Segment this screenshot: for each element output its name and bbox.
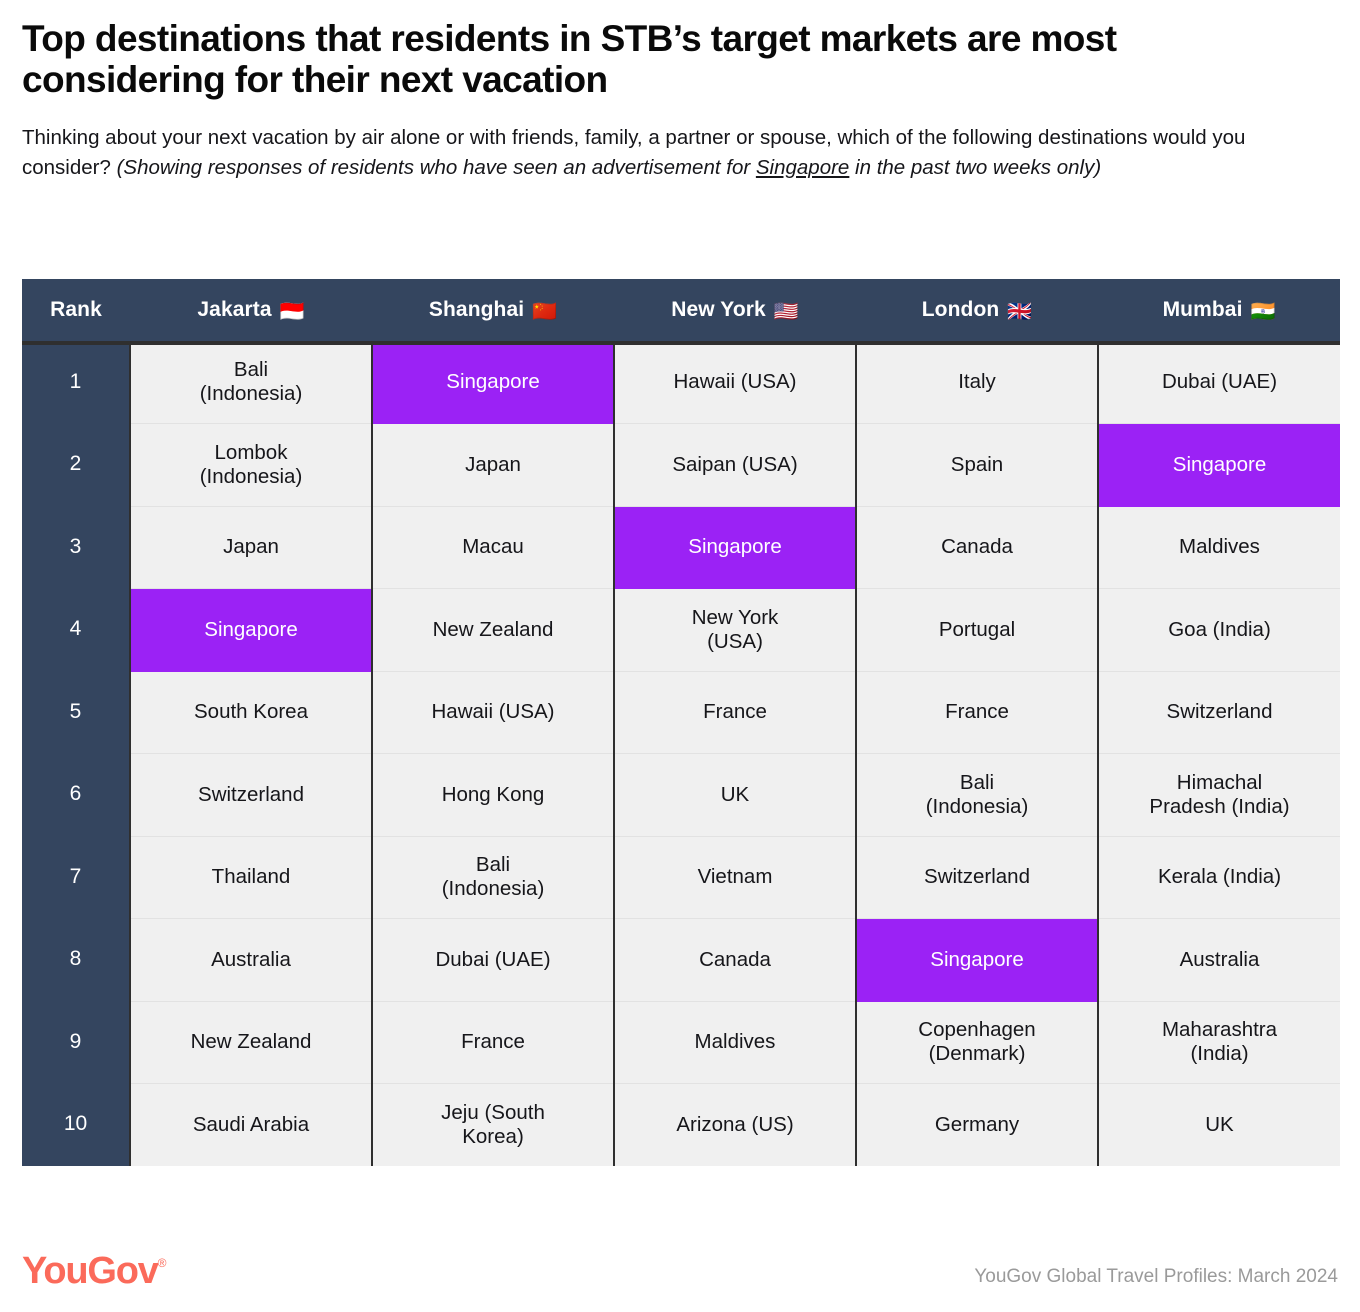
- rank-cell: 1: [22, 341, 130, 424]
- destination-cell: Hong Kong: [372, 754, 614, 837]
- destination-cell: Bali(Indonesia): [372, 836, 614, 919]
- destination-cell: Australia: [130, 919, 372, 1002]
- destination-cell: Maharashtra(India): [1098, 1001, 1340, 1084]
- destination-cell: France: [372, 1001, 614, 1084]
- column-header-new-york: New York🇺🇸: [614, 279, 856, 341]
- header-underline-rule: [22, 341, 1340, 345]
- destination-cell: Dubai (UAE): [1098, 341, 1340, 424]
- page-subtitle: Thinking about your next vacation by air…: [22, 123, 1322, 182]
- rank-cell: 5: [22, 671, 130, 754]
- table-header-row: RankJakarta🇮🇩Shanghai🇨🇳New York🇺🇸London🇬…: [22, 279, 1340, 341]
- destination-cell: New Zealand: [130, 1001, 372, 1084]
- destination-cell: France: [614, 671, 856, 754]
- destination-cell: Jeju (SouthKorea): [372, 1084, 614, 1167]
- column-header-rank: Rank: [22, 279, 130, 341]
- destination-cell: Saipan (USA): [614, 424, 856, 507]
- destination-cell: France: [856, 671, 1098, 754]
- destination-cell: Maldives: [1098, 506, 1340, 589]
- footer: YouGov® YouGov Global Travel Profiles: M…: [0, 1238, 1360, 1312]
- table-row: 2Lombok(Indonesia)JapanSaipan (USA)Spain…: [22, 424, 1340, 507]
- table-row: 5South KoreaHawaii (USA)FranceFranceSwit…: [22, 671, 1340, 754]
- rankings-table: RankJakarta🇮🇩Shanghai🇨🇳New York🇺🇸London🇬…: [22, 279, 1340, 1166]
- destination-cell: Macau: [372, 506, 614, 589]
- rank-cell: 7: [22, 836, 130, 919]
- source-note: YouGov Global Travel Profiles: March 202…: [974, 1266, 1338, 1288]
- registered-mark-icon: ®: [158, 1256, 167, 1270]
- destination-cell: HimachalPradesh (India): [1098, 754, 1340, 837]
- column-header-mumbai: Mumbai🇮🇳: [1098, 279, 1340, 341]
- table-row: 7ThailandBali(Indonesia)VietnamSwitzerla…: [22, 836, 1340, 919]
- destination-cell: Switzerland: [1098, 671, 1340, 754]
- header-block: Top destinations that residents in STB’s…: [22, 18, 1340, 182]
- column-header-london: London🇬🇧: [856, 279, 1098, 341]
- table-row: 1Bali(Indonesia)SingaporeHawaii (USA)Ita…: [22, 341, 1340, 424]
- rankings-table-container: RankJakarta🇮🇩Shanghai🇨🇳New York🇺🇸London🇬…: [22, 279, 1340, 1166]
- destination-cell: Vietnam: [614, 836, 856, 919]
- flag-icon-shanghai: 🇨🇳: [532, 299, 557, 323]
- destination-cell: Portugal: [856, 589, 1098, 672]
- destination-cell: Bali(Indonesia): [856, 754, 1098, 837]
- rank-cell: 3: [22, 506, 130, 589]
- table-row: 3JapanMacauSingaporeCanadaMaldives: [22, 506, 1340, 589]
- rank-cell: 10: [22, 1084, 130, 1167]
- destination-cell: Germany: [856, 1084, 1098, 1167]
- yougov-logo-text: YouGov: [22, 1250, 158, 1292]
- destination-cell: New Zealand: [372, 589, 614, 672]
- destination-cell: Lombok(Indonesia): [130, 424, 372, 507]
- destination-cell: Canada: [614, 919, 856, 1002]
- destination-cell-highlighted: Singapore: [1098, 424, 1340, 507]
- destination-cell: Arizona (US): [614, 1084, 856, 1167]
- table-body: 1Bali(Indonesia)SingaporeHawaii (USA)Ita…: [22, 341, 1340, 1166]
- destination-cell: Hawaii (USA): [614, 341, 856, 424]
- rank-cell: 4: [22, 589, 130, 672]
- table-header: RankJakarta🇮🇩Shanghai🇨🇳New York🇺🇸London🇬…: [22, 279, 1340, 341]
- destination-cell: Kerala (India): [1098, 836, 1340, 919]
- destination-cell: Italy: [856, 341, 1098, 424]
- rank-cell: 8: [22, 919, 130, 1002]
- column-header-label: Shanghai: [429, 298, 524, 321]
- destination-cell-highlighted: Singapore: [614, 506, 856, 589]
- table-row: 10Saudi ArabiaJeju (SouthKorea)Arizona (…: [22, 1084, 1340, 1167]
- destination-cell: Copenhagen(Denmark): [856, 1001, 1098, 1084]
- destination-cell: Canada: [856, 506, 1098, 589]
- rank-cell: 9: [22, 1001, 130, 1084]
- destination-cell: Dubai (UAE): [372, 919, 614, 1002]
- destination-cell: Goa (India): [1098, 589, 1340, 672]
- column-header-label: London: [922, 298, 1000, 321]
- destination-cell: South Korea: [130, 671, 372, 754]
- destination-cell: Saudi Arabia: [130, 1084, 372, 1167]
- column-header-label: Jakarta: [197, 298, 271, 321]
- destination-cell: Thailand: [130, 836, 372, 919]
- flag-icon-jakarta: 🇮🇩: [280, 299, 305, 323]
- rank-cell: 6: [22, 754, 130, 837]
- destination-cell: Switzerland: [856, 836, 1098, 919]
- infographic-page: Top destinations that residents in STB’s…: [0, 0, 1360, 1312]
- subtitle-underlined-term: Singapore: [756, 156, 849, 179]
- table-row: 9New ZealandFranceMaldivesCopenhagen(Den…: [22, 1001, 1340, 1084]
- destination-cell: Bali(Indonesia): [130, 341, 372, 424]
- flag-icon-new-york: 🇺🇸: [774, 299, 799, 323]
- destination-cell: Hawaii (USA): [372, 671, 614, 754]
- column-header-label: Rank: [50, 298, 102, 321]
- destination-cell: Spain: [856, 424, 1098, 507]
- table-row: 6SwitzerlandHong KongUKBali(Indonesia)Hi…: [22, 754, 1340, 837]
- subtitle-italic-open: (Showing responses of residents who have…: [117, 156, 756, 179]
- column-header-shanghai: Shanghai🇨🇳: [372, 279, 614, 341]
- column-header-label: New York: [671, 298, 766, 321]
- table-row: 4SingaporeNew ZealandNew York(USA)Portug…: [22, 589, 1340, 672]
- table-row: 8AustraliaDubai (UAE)CanadaSingaporeAust…: [22, 919, 1340, 1002]
- subtitle-italic-close: in the past two weeks only): [849, 156, 1101, 179]
- yougov-logo: YouGov®: [22, 1250, 167, 1293]
- destination-cell: Australia: [1098, 919, 1340, 1002]
- flag-icon-london: 🇬🇧: [1007, 299, 1032, 323]
- flag-icon-mumbai: 🇮🇳: [1251, 299, 1276, 323]
- rank-cell: 2: [22, 424, 130, 507]
- destination-cell: New York(USA): [614, 589, 856, 672]
- destination-cell: UK: [614, 754, 856, 837]
- destination-cell: Japan: [130, 506, 372, 589]
- column-header-jakarta: Jakarta🇮🇩: [130, 279, 372, 341]
- destination-cell-highlighted: Singapore: [130, 589, 372, 672]
- page-title: Top destinations that residents in STB’s…: [22, 18, 1292, 101]
- destination-cell: Maldives: [614, 1001, 856, 1084]
- column-header-label: Mumbai: [1163, 298, 1243, 321]
- destination-cell: Japan: [372, 424, 614, 507]
- destination-cell: Switzerland: [130, 754, 372, 837]
- destination-cell-highlighted: Singapore: [372, 341, 614, 424]
- destination-cell-highlighted: Singapore: [856, 919, 1098, 1002]
- destination-cell: UK: [1098, 1084, 1340, 1167]
